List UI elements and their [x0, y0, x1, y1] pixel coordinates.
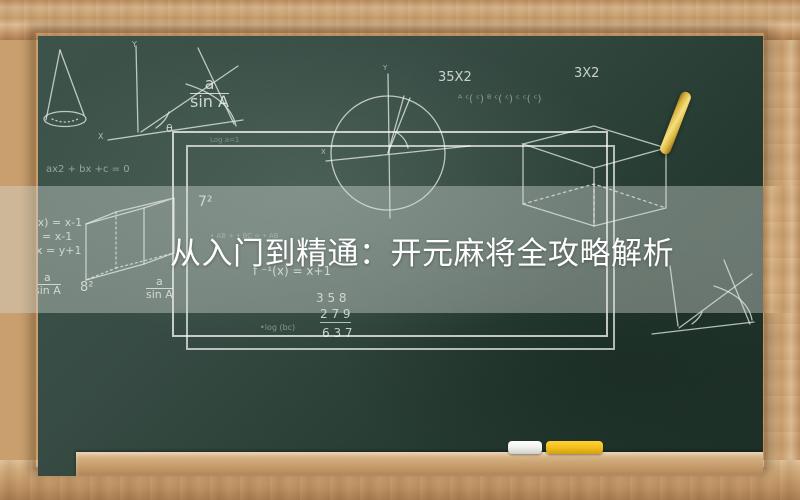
eight-squared: 8² — [80, 280, 93, 295]
quadratic-equation: ax2 + bx +c = 0 — [46, 164, 130, 175]
axis-y-label: Y — [132, 40, 137, 49]
fraction-numerator: a — [44, 271, 51, 284]
banner-title: 从入门到精通：开元麻将全攻略解析 — [170, 232, 674, 277]
yellow-chalk-piece — [546, 441, 603, 454]
function-line-1: f (x) = x-1 — [38, 216, 82, 229]
fraction-a-sin-a: a sin A — [190, 76, 229, 111]
fraction-denominator: sin A — [190, 92, 229, 111]
banner-stage: a sin A Y X θ ax2 + bx +c = 0 f (x) = x-… — [0, 0, 800, 500]
cone-shape — [44, 50, 86, 127]
white-chalk-piece — [508, 441, 542, 454]
axis-x-label: X — [98, 132, 103, 141]
fraction-a-sin-a-mid: a sin A — [146, 276, 173, 300]
fraction-denominator: sin A — [38, 284, 61, 297]
fraction-numerator: a — [156, 275, 163, 288]
fraction-denominator: sin A — [146, 288, 173, 301]
frame-right-rail-overlap — [763, 186, 800, 313]
circle-axis-y: Y — [383, 64, 387, 72]
scribble-row: ᴬ ᶜ( ᶜ) ᴮ ᶜ( ᶜ) ᶜ ᶜ( ᶜ) — [458, 94, 541, 105]
fraction-a-sin-a-left: a sin A — [38, 272, 61, 296]
function-line-2: y = x-1 — [38, 230, 72, 243]
fraction-numerator: a — [205, 74, 215, 93]
chalk-ledge — [76, 452, 763, 476]
label-35x2: 35X2 — [438, 70, 472, 85]
label-3x2: 3X2 — [574, 66, 599, 81]
function-line-3: x = y+1 — [38, 244, 81, 257]
cube-left — [86, 198, 174, 280]
